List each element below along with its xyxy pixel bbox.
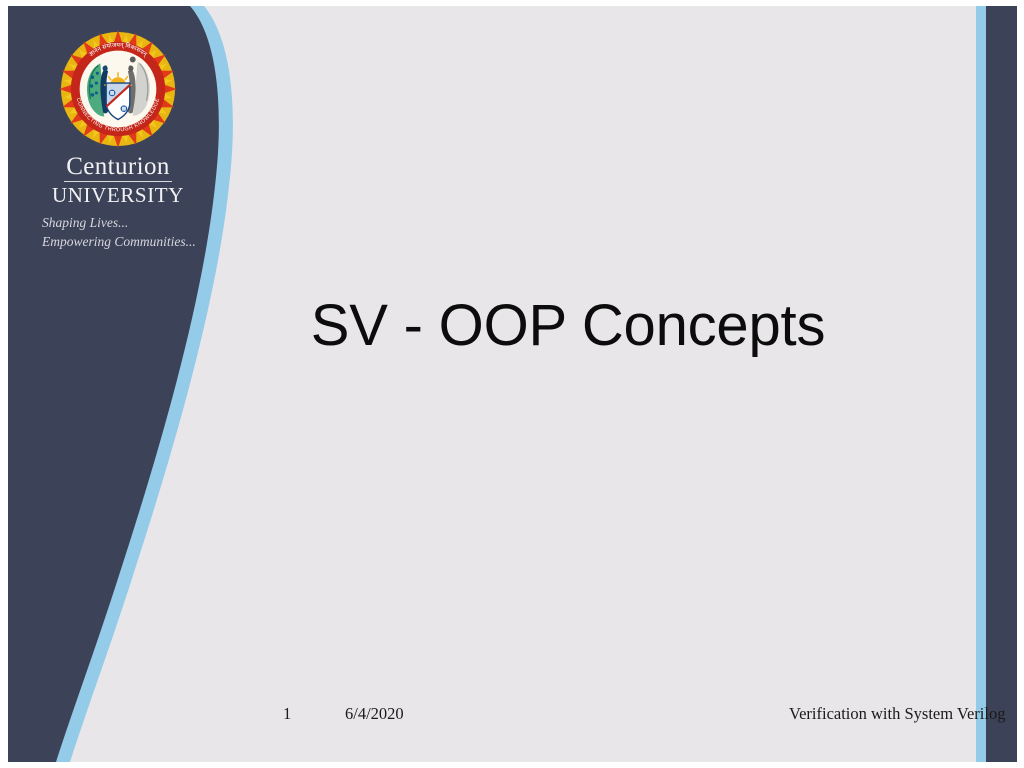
centurion-university-emblem-icon: ज्ञानेन संयोजयन् विकासयन् CONNECTING THR… (59, 30, 177, 148)
right-navy-accent-bar (986, 6, 1017, 762)
footer-slide-number: 1 (283, 704, 291, 724)
tagline-shaping-lives: Shaping Lives... (38, 214, 198, 233)
wordmark-line-1: Centurion (64, 154, 172, 182)
slide-title: SV - OOP Concepts (198, 294, 938, 358)
presentation-slide: ज्ञानेन संयोजयन् विकासयन् CONNECTING THR… (8, 6, 1017, 762)
university-logo-block: ज्ञानेन संयोजयन् विकासयन् CONNECTING THR… (38, 30, 198, 252)
wordmark-line-2: UNIVERSITY (38, 183, 198, 208)
university-wordmark: Centurion UNIVERSITY Shaping Lives... Em… (38, 154, 198, 252)
footer-subject: Verification with System Verilog (789, 704, 1005, 724)
footer-date: 6/4/2020 (345, 704, 404, 724)
tagline-empowering-communities: Empowering Communities... (38, 233, 198, 252)
right-blue-accent-bar (976, 6, 986, 762)
